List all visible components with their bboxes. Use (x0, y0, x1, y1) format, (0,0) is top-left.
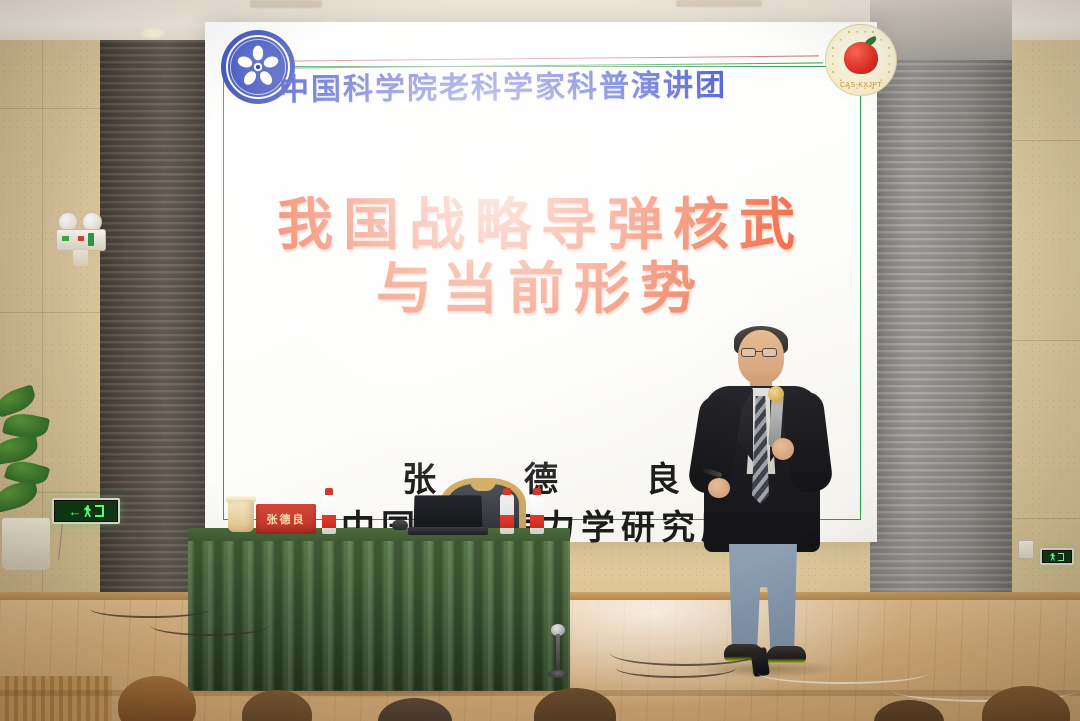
paper-cup (228, 500, 254, 532)
slide-title-line-1: 我国战略导弹核武 (205, 194, 877, 258)
bottle-label (322, 515, 336, 528)
water-bottle (322, 494, 336, 534)
exit-sign-glow (55, 501, 117, 521)
trousers (726, 544, 800, 652)
speaker-hand-right (772, 438, 794, 460)
power-cable (758, 662, 928, 684)
light-switch-plate[interactable] (1018, 540, 1034, 559)
seating-rail (0, 676, 112, 721)
lens-right (762, 348, 777, 357)
badge-text: CAS-KXJPT (826, 82, 896, 89)
exit-sign-glow (1043, 551, 1071, 562)
led-green (62, 236, 69, 241)
left-arrow-icon: ← (69, 505, 82, 518)
lens-left (741, 348, 756, 357)
presenter-table (188, 528, 570, 688)
laptop-screen (413, 495, 482, 529)
bottle-label (530, 515, 544, 528)
ceiling-vent (676, 0, 762, 7)
slide-organization-header: 中国科学院老科学家科普演讲团 (279, 59, 819, 109)
floor-microphone-stand (548, 624, 568, 676)
shoe-right (766, 646, 806, 664)
door-icon (95, 505, 104, 517)
apple-in-hands-icon: CAS-KXJPT (825, 24, 897, 96)
bottle-cap (503, 488, 511, 495)
name-placard: 张德良 (256, 504, 316, 534)
eyeglasses-icon (741, 348, 781, 357)
emergency-light-mount (73, 250, 88, 266)
floor-mic-pole (556, 634, 560, 674)
slide-title: 我国战略导弹核武 与当前形势 (205, 194, 877, 322)
door-icon (1058, 553, 1064, 561)
plant-pot (2, 518, 50, 570)
bottle-cap (325, 488, 333, 495)
emergency-twin-lamp-icon (56, 212, 106, 270)
bottle-cap (533, 488, 541, 495)
placard-text: 张德良 (267, 511, 306, 527)
microphone-head (768, 386, 784, 402)
speaker-head (738, 330, 784, 384)
slide-title-line-2: 与当前形势 (205, 258, 877, 322)
exit-running-man-icon: ← (52, 498, 120, 524)
laptop-keyboard[interactable] (408, 527, 488, 535)
photo-canvas: CAS-KXJPT 中国科学院老科学家科普演讲团 我国战略导弹核武 与当前形势 … (0, 0, 1080, 721)
led-red (78, 236, 84, 241)
computer-mouse[interactable] (392, 520, 408, 530)
water-bottle (500, 494, 514, 534)
laptop[interactable] (408, 495, 486, 537)
plant-leaf (0, 479, 40, 513)
plant-leaf (0, 435, 39, 465)
potted-plant-icon (0, 380, 60, 570)
placard-face: 张德良 (256, 504, 316, 534)
bottle-label (500, 515, 514, 528)
glasses-bridge (756, 351, 762, 352)
recessed-downlight-icon (140, 28, 166, 39)
exit-running-man-icon (1040, 548, 1074, 565)
speaker-person (686, 330, 836, 675)
water-bottle (530, 494, 544, 534)
floor-mic-base (548, 670, 568, 678)
plant-leaf (0, 384, 38, 417)
hands-icon (838, 64, 884, 84)
curtain-panel-right (870, 0, 1012, 640)
power-cable (150, 614, 270, 636)
battery-indicator (88, 233, 94, 246)
audio-cable (616, 658, 736, 678)
curtain-flutes (870, 0, 1012, 640)
ceiling-vent (250, 0, 322, 8)
speaker-hand-left (708, 478, 730, 498)
